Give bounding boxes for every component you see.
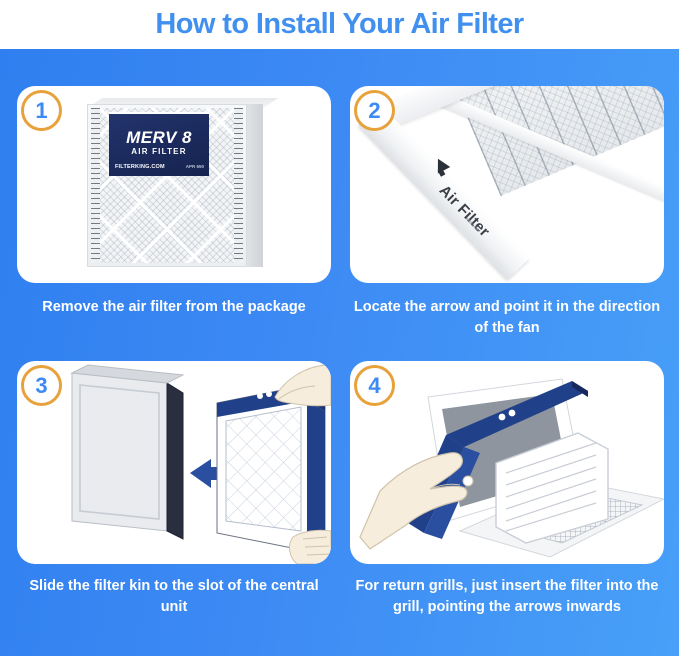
- filter-pleats-left: [91, 108, 100, 263]
- filter-into-unit-diagram: [17, 361, 331, 564]
- merv-rating: MERV 8: [109, 128, 209, 148]
- step-caption-4: For return grills, just insert the filte…: [350, 576, 664, 618]
- header: How to Install Your Air Filter: [0, 0, 679, 49]
- step-card-4: [350, 361, 664, 564]
- air-filter-panel: [217, 385, 325, 551]
- filter-into-return-grill-diagram: [350, 361, 664, 564]
- central-unit: [72, 365, 183, 539]
- step-card-3: [17, 361, 331, 564]
- angled-filter-photo: Air Filter AIRFLOW: [350, 86, 664, 283]
- hand-lower: [290, 530, 331, 564]
- step-card-2: Air Filter AIRFLOW: [350, 86, 664, 283]
- page-title: How to Install Your Air Filter: [155, 8, 523, 41]
- filter-pleats-right: [234, 108, 243, 263]
- hand-upper: [275, 365, 331, 406]
- step-badge-3: 3: [21, 365, 62, 406]
- step-4-artwork: [350, 361, 664, 564]
- step-caption-1: Remove the air filter from the package: [17, 297, 331, 318]
- hand-inserting-filter: [360, 453, 473, 549]
- step-1-artwork: FILTER KING MADE IN USA MERV 8 AIR FILTE…: [17, 86, 331, 283]
- label-header-strip: [109, 112, 209, 114]
- step-caption-2: Locate the arrow and point it in the dir…: [350, 297, 664, 339]
- step-caption-3: Slide the filter kin to the slot of the …: [17, 576, 331, 618]
- website-url: FILTERKING.COM: [115, 164, 165, 170]
- air-filter-product-photo: FILTER KING MADE IN USA MERV 8 AIR FILTE…: [87, 98, 263, 270]
- product-label: FILTER KING MADE IN USA MERV 8 AIR FILTE…: [109, 112, 209, 176]
- step-badge-4: 4: [354, 365, 395, 406]
- step-card-1: FILTER KING MADE IN USA MERV 8 AIR FILTE…: [17, 86, 331, 283]
- filter-side-edge: [247, 104, 263, 267]
- step-3-artwork: [17, 361, 331, 564]
- apr-rating: APR 650: [186, 164, 204, 169]
- step-2-artwork: Air Filter AIRFLOW: [350, 86, 664, 283]
- step-badge-1: 1: [21, 90, 62, 131]
- infographic-root: How to Install Your Air Filter FILTER KI…: [0, 0, 679, 656]
- step-badge-2: 2: [354, 90, 395, 131]
- product-type: AIR FILTER: [109, 147, 209, 156]
